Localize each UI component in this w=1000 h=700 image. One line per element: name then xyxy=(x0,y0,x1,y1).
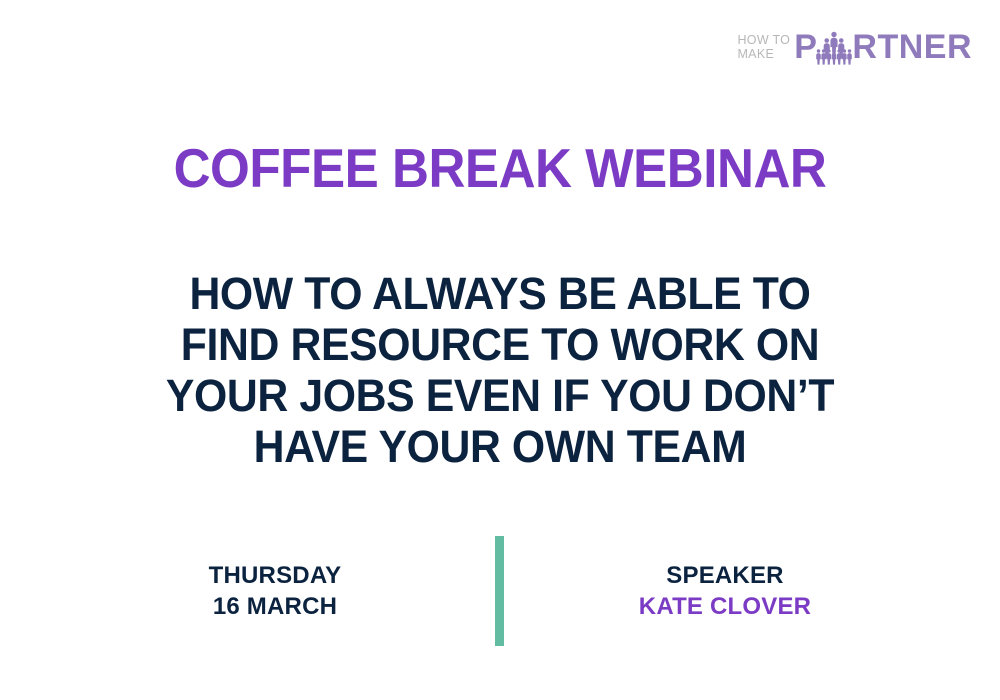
page-title: COFFEE BREAK WEBINAR xyxy=(35,141,965,196)
vertical-divider xyxy=(495,536,504,646)
logo-tagline-line-2: MAKE xyxy=(737,48,774,62)
logo-letter-p: P xyxy=(794,30,817,64)
webinar-day: THURSDAY xyxy=(60,560,490,591)
webinar-topic-line-3: YOUR JOBS EVEN IF YOU DON’T xyxy=(25,370,975,421)
webinar-date-block: THURSDAY 16 MARCH xyxy=(60,560,490,622)
speaker-name: KATE CLOVER xyxy=(510,591,940,622)
slide-footer: THURSDAY 16 MARCH SPEAKER KATE CLOVER xyxy=(0,534,1000,654)
speaker-block: SPEAKER KATE CLOVER xyxy=(510,560,940,622)
logo-tagline: HOW TO MAKE xyxy=(737,34,790,64)
people-pyramid-icon xyxy=(816,31,852,65)
logo-letters-rtner: RTNER xyxy=(852,30,972,64)
how-to-make-partner-logo: HOW TO MAKE P xyxy=(737,18,972,64)
webinar-topic-line-4: HAVE YOUR OWN TEAM xyxy=(25,421,975,472)
logo-tagline-line-1: HOW TO xyxy=(737,34,790,48)
webinar-promo-slide: HOW TO MAKE P xyxy=(0,0,1000,700)
webinar-topic-line-1: HOW TO ALWAYS BE ABLE TO xyxy=(25,268,975,319)
webinar-date: 16 MARCH xyxy=(60,591,490,622)
webinar-topic: HOW TO ALWAYS BE ABLE TO FIND RESOURCE T… xyxy=(0,268,1000,472)
webinar-topic-line-2: FIND RESOURCE TO WORK ON xyxy=(25,319,975,370)
logo-wordmark: P xyxy=(794,30,972,64)
speaker-label: SPEAKER xyxy=(510,560,940,591)
